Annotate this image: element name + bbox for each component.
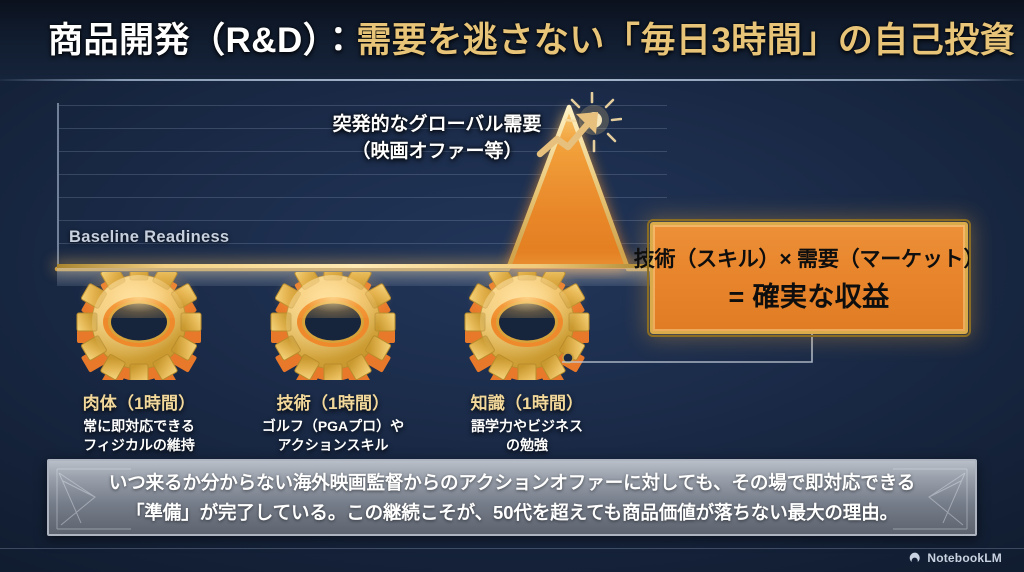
slide-header: 商品開発（R&D）：需要を逃さない「毎日3時間」の自己投資 xyxy=(0,0,1024,81)
summary-caption-box: いつ来るか分からない海外映画監督からのアクションオファーに対しても、その場で即対… xyxy=(47,459,977,536)
pillar-label: 肉体（1時間） xyxy=(64,389,214,414)
trend-up-sparkle-icon xyxy=(530,92,622,176)
formula-callout[interactable]: 技術（スキル）× 需要（マーケット） = 確実な収益 xyxy=(650,222,968,334)
caption-line-1: いつ来るか分からない海外映画監督からのアクションオファーに対しても、その場で即対… xyxy=(109,468,915,498)
footer-divider xyxy=(0,548,1024,549)
page-title-primary: 商品開発（R&D）： xyxy=(48,21,356,60)
pillar-subtext: 語学力やビジネス の勉強 xyxy=(452,417,602,455)
pillar-subtext: ゴルフ（PGAプロ）や アクションスキル xyxy=(258,417,408,455)
baseline-readiness-label: Baseline Readiness xyxy=(69,228,229,247)
notebooklm-logo-icon xyxy=(908,551,922,565)
watermark-label: NotebookLM xyxy=(927,551,1002,565)
notebooklm-watermark: NotebookLM xyxy=(908,551,1002,565)
pillar-subtext-line2: アクションスキル xyxy=(258,436,408,455)
gear-icon xyxy=(64,272,214,380)
slide-root: 商品開発（R&D）：需要を逃さない「毎日3時間」の自己投資 xyxy=(0,0,1024,572)
pillar-label: 技術（1時間） xyxy=(258,389,408,414)
gear-icon xyxy=(258,272,408,380)
pillar-subtext-line2: フィジカルの維持 xyxy=(64,436,214,455)
pillar-label: 知識（1時間） xyxy=(452,389,602,414)
pillar-subtext-line1: ゴルフ（PGAプロ）や xyxy=(258,417,408,436)
pillar-subtext-line2: の勉強 xyxy=(452,436,602,455)
formula-line-1: 技術（スキル）× 需要（マーケット） xyxy=(634,243,985,273)
caption-line-2: 「準備」が完了している。この継続こそが、50代を超えても商品価値が落ちない最大の… xyxy=(126,498,898,528)
pillar-subtext-line1: 常に即対応できる xyxy=(64,417,214,436)
pillar-subtext-line1: 語学力やビジネス xyxy=(452,417,602,436)
page-title-accent: 需要を逃さない「毎日3時間」の自己投資 xyxy=(356,21,1015,60)
pillar-item-physical[interactable]: 肉体（1時間） 常に即対応できる フィジカルの維持 xyxy=(64,272,214,455)
formula-line-2: = 確実な収益 xyxy=(728,275,889,314)
formula-connector-line xyxy=(560,330,860,380)
pillar-subtext: 常に即対応できる フィジカルの維持 xyxy=(64,417,214,455)
pillar-item-skill[interactable]: 技術（1時間） ゴルフ（PGAプロ）や アクションスキル xyxy=(258,272,408,455)
page-title: 商品開発（R&D）：需要を逃さない「毎日3時間」の自己投資 xyxy=(48,18,1015,64)
